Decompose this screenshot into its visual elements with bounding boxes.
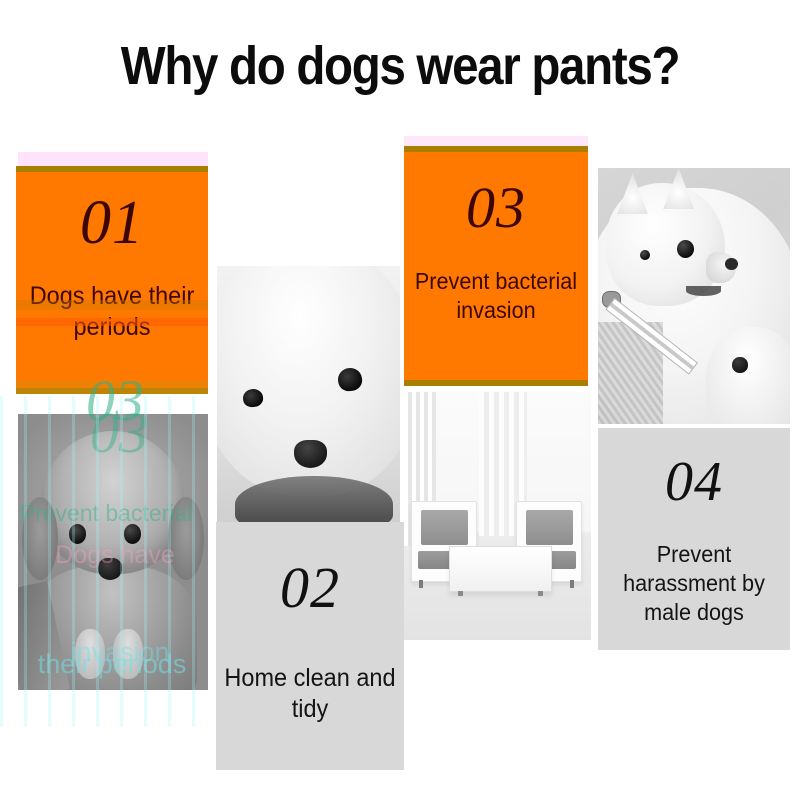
card-number: 02 bbox=[280, 554, 340, 621]
card-top-band bbox=[404, 146, 588, 152]
artifact-tint-band bbox=[18, 152, 208, 166]
poodle-paw-left bbox=[75, 629, 105, 679]
poodle-head bbox=[41, 431, 185, 575]
reason-card-04[interactable]: 04 Prevent harassment by male dogs bbox=[598, 428, 790, 650]
poodle-ear-left bbox=[22, 497, 58, 580]
chair-cushion bbox=[421, 510, 468, 545]
card-number: 04 bbox=[665, 450, 723, 514]
card-caption: Dogs have their periods bbox=[22, 281, 202, 344]
infographic-canvas: Why do dogs wear pants? bbox=[0, 0, 800, 800]
card-bottom-band bbox=[404, 380, 588, 386]
poodle-paw-right bbox=[113, 629, 143, 679]
artifact-tint-band bbox=[404, 136, 588, 146]
page-title: Why do dogs wear pants? bbox=[48, 36, 752, 96]
pomeranian-eye bbox=[677, 240, 694, 258]
reason-card-01[interactable]: 01 Dogs have their periods bbox=[16, 166, 208, 394]
card-caption: Home clean and tidy bbox=[222, 663, 399, 726]
chair-leg bbox=[570, 580, 574, 588]
card-number: 03 bbox=[466, 174, 526, 241]
card-number: 01 bbox=[80, 188, 144, 259]
poodle-ear-right bbox=[168, 497, 204, 580]
second-dog-eye bbox=[732, 357, 747, 372]
table-leg bbox=[458, 591, 463, 596]
pomeranian-mouth bbox=[686, 286, 721, 296]
photo-poodle bbox=[18, 414, 208, 690]
reason-card-03[interactable]: 03 Prevent bacterial invasion bbox=[404, 146, 588, 386]
chair-cushion bbox=[526, 510, 573, 545]
card-caption: Prevent bacterial invasion bbox=[410, 267, 583, 325]
pomeranian-eye-far bbox=[640, 250, 650, 260]
card-top-band bbox=[16, 166, 208, 172]
poodle-eye-left bbox=[69, 524, 86, 543]
chair-leg bbox=[419, 580, 423, 588]
poodle-nose bbox=[98, 558, 123, 580]
table-leg bbox=[538, 591, 543, 596]
second-dog bbox=[706, 327, 790, 424]
card-bottom-band bbox=[16, 388, 208, 394]
photo-white-puppy bbox=[217, 266, 400, 522]
room-coffee-table bbox=[449, 546, 552, 593]
reason-card-02[interactable]: 02 Home clean and tidy bbox=[216, 522, 404, 770]
puppy-nose bbox=[294, 440, 327, 468]
photo-pomeranian bbox=[598, 168, 790, 424]
photo-living-room bbox=[404, 392, 591, 640]
card-caption: Prevent harassment by male dogs bbox=[604, 540, 784, 626]
